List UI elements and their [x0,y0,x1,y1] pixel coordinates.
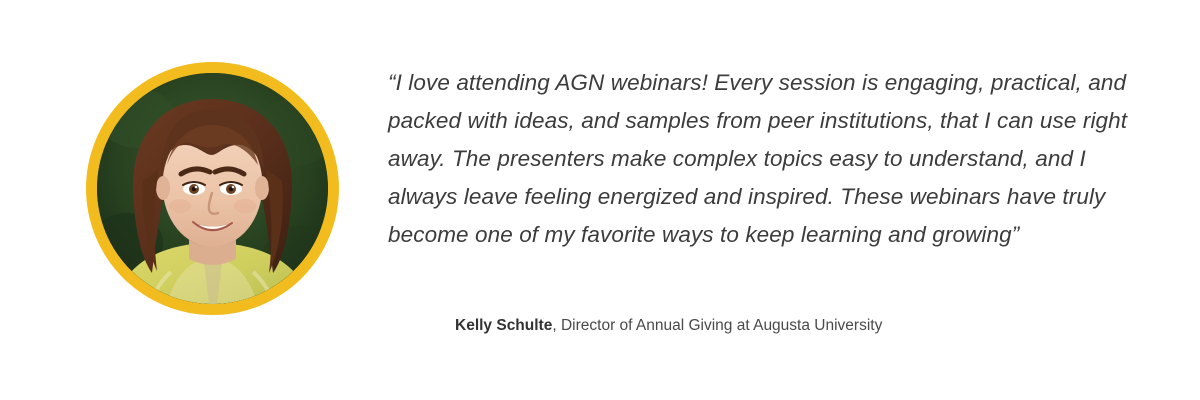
avatar [86,62,339,315]
portrait-illustration [97,73,328,304]
author-name: Kelly Schulte [455,317,552,334]
quote-block: “I love attending AGN webinars! Every se… [388,64,1128,254]
attribution: Kelly Schulte, Director of Annual Giving… [455,315,882,337]
author-role: Director of Annual Giving at Augusta Uni… [561,317,882,334]
author-separator: , [552,317,561,334]
avatar-photo [97,73,328,304]
quote-text: “I love attending AGN webinars! Every se… [388,64,1128,254]
testimonial-card: “I love attending AGN webinars! Every se… [0,0,1200,400]
